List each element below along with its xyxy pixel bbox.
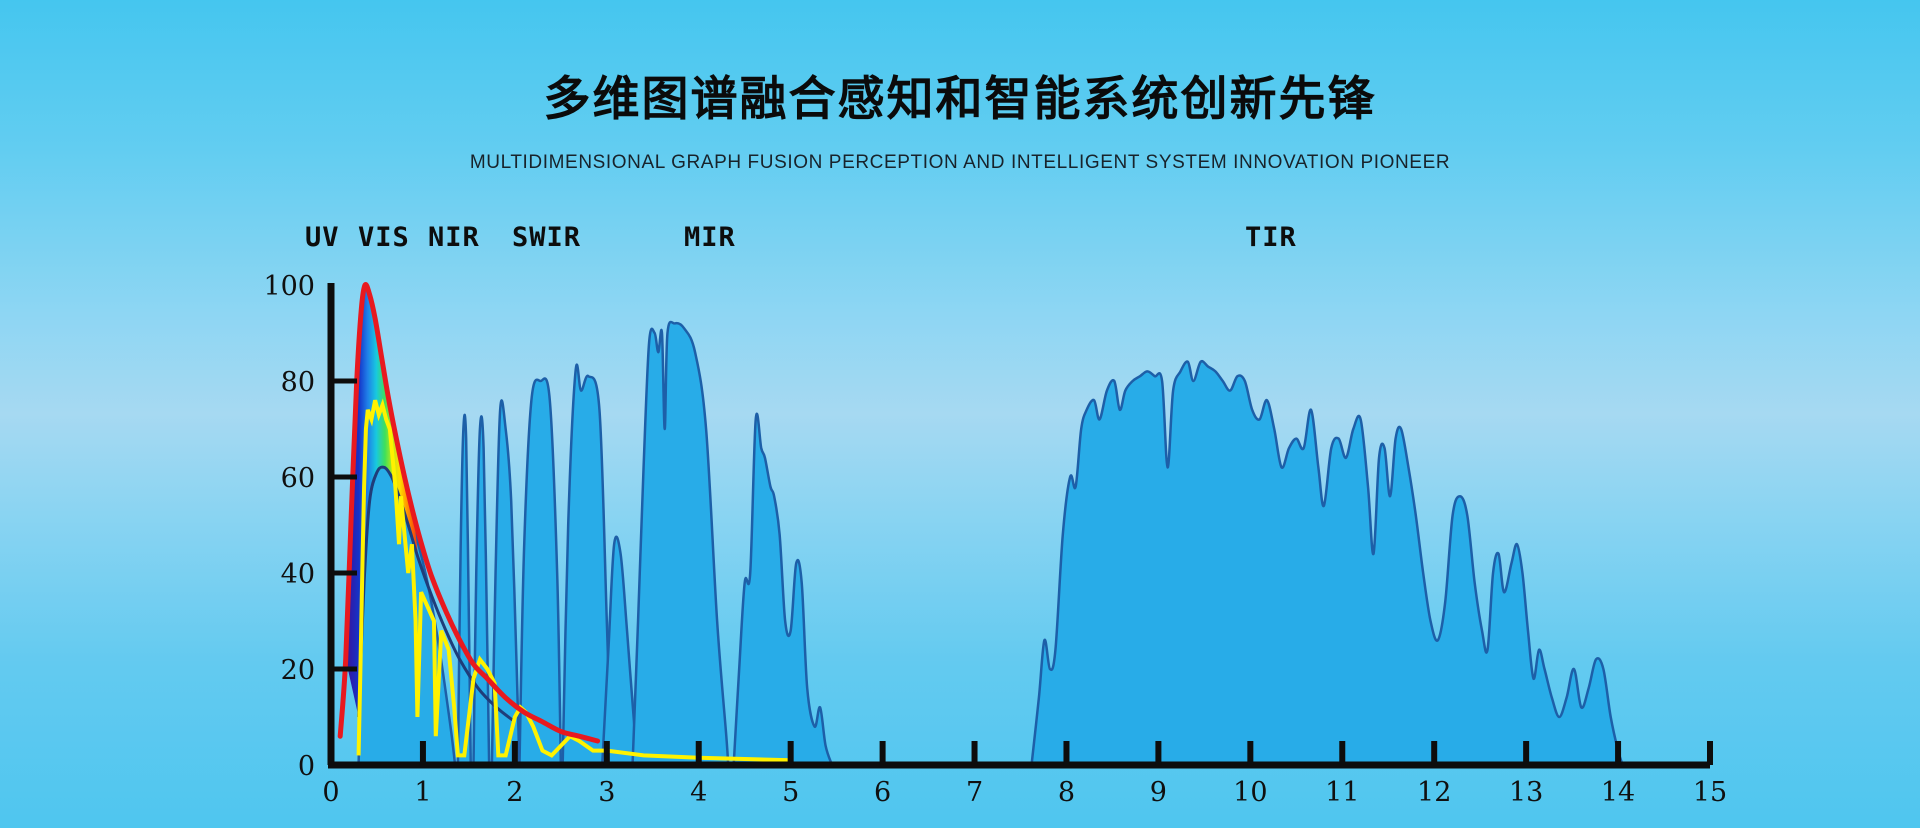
x-tick-label-8: 8	[1058, 777, 1075, 808]
x-tick-label-4: 4	[690, 777, 707, 808]
spectrum-chart: 0123456789101112131415 020406080100	[0, 0, 1920, 828]
y-tick-label-0: 0	[298, 751, 315, 782]
transmission-window-2	[474, 416, 490, 765]
y-tick-label-80: 80	[281, 367, 315, 398]
x-axis-tick-labels: 0123456789101112131415	[322, 777, 1727, 808]
x-tick-label-3: 3	[598, 777, 615, 808]
y-tick-label-40: 40	[281, 559, 315, 590]
transmission-windows	[359, 322, 1623, 765]
x-tick-label-5: 5	[782, 777, 799, 808]
x-tick-label-2: 2	[506, 777, 523, 808]
transmission-window-9	[1032, 361, 1623, 765]
x-tick-label-14: 14	[1601, 777, 1635, 808]
transmission-window-4	[519, 378, 560, 765]
x-tick-label-1: 1	[414, 777, 431, 808]
x-tick-label-15: 15	[1693, 777, 1727, 808]
poster-root: 多维图谱融合感知和智能系统创新先锋 MULTIDIMENSIONAL GRAPH…	[0, 0, 1920, 828]
x-tick-label-12: 12	[1417, 777, 1451, 808]
y-tick-label-60: 60	[281, 463, 315, 494]
y-tick-label-20: 20	[281, 655, 315, 686]
x-tick-label-13: 13	[1509, 777, 1543, 808]
x-tick-label-6: 6	[874, 777, 891, 808]
x-tick-label-10: 10	[1233, 777, 1267, 808]
x-tick-label-9: 9	[1150, 777, 1167, 808]
y-axis-tick-labels: 020406080100	[263, 271, 315, 782]
x-tick-label-7: 7	[966, 777, 983, 808]
y-tick-label-100: 100	[263, 271, 315, 302]
transmission-window-8	[734, 414, 832, 765]
transmission-window-5	[563, 365, 612, 765]
transmission-window-7	[633, 322, 729, 765]
x-tick-label-0: 0	[322, 777, 339, 808]
x-tick-label-11: 11	[1325, 777, 1359, 808]
chart-svg: 0123456789101112131415 020406080100	[0, 0, 1920, 828]
